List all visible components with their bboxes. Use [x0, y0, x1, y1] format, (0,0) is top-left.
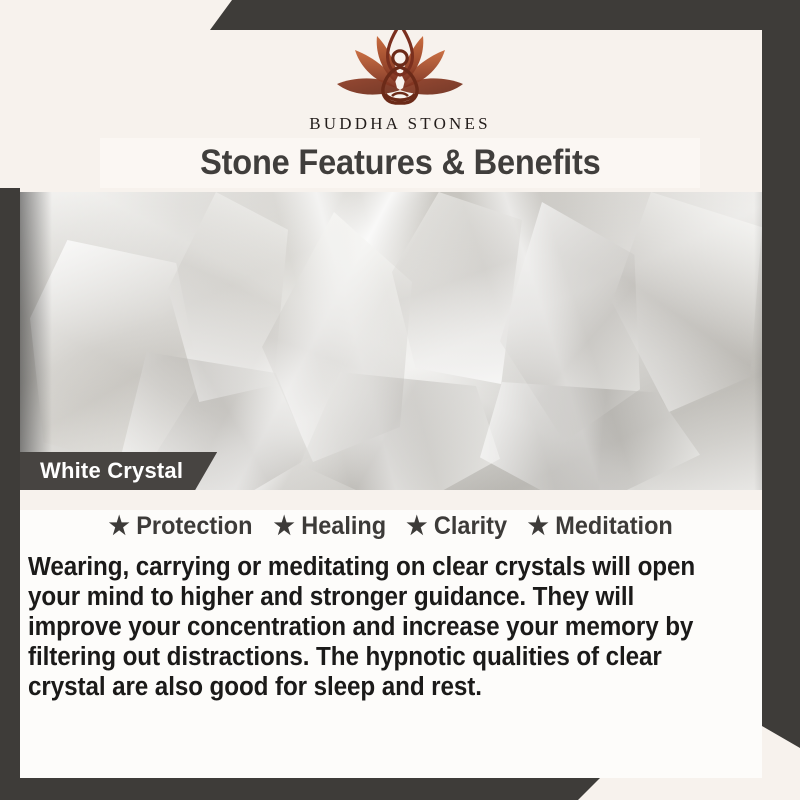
stone-info-card: BUDDHA STONES Stone Features & Benefits …	[0, 0, 800, 800]
frame-left-band	[0, 188, 20, 800]
hero-image	[0, 192, 800, 490]
benefits-list: ★ Protection ★ Healing ★ Clarity ★ Medit…	[20, 512, 762, 541]
lotus-meditation-icon	[325, 18, 475, 110]
benefit-item-clarity: ★ Clarity	[406, 512, 507, 541]
frame-bottom-band	[0, 778, 600, 800]
star-icon: ★	[406, 514, 427, 539]
frame-top-band	[210, 0, 800, 30]
frame-right-band	[762, 0, 800, 748]
content-top-tint	[20, 490, 762, 510]
content-panel: ★ Protection ★ Healing ★ Clarity ★ Medit…	[20, 490, 762, 778]
page-title-bar: Stone Features & Benefits	[100, 138, 700, 188]
benefit-label: Meditation	[556, 512, 673, 541]
star-icon: ★	[274, 514, 295, 539]
benefit-item-meditation: ★ Meditation	[528, 512, 673, 541]
benefit-label: Clarity	[434, 512, 507, 541]
brand-name: BUDDHA STONES	[0, 114, 800, 134]
stone-name-label: White Crystal	[40, 458, 183, 484]
star-icon: ★	[528, 514, 549, 539]
benefit-label: Protection	[137, 512, 253, 541]
page-title: Stone Features & Benefits	[200, 143, 601, 183]
benefit-item-protection: ★ Protection	[109, 512, 253, 541]
benefit-item-healing: ★ Healing	[274, 512, 387, 541]
crystal-cluster-photo	[0, 192, 800, 490]
stone-description: Wearing, carrying or meditating on clear…	[28, 552, 718, 702]
benefit-label: Healing	[302, 512, 387, 541]
crystal-facet	[392, 192, 522, 392]
brand-logo-block: BUDDHA STONES	[0, 18, 800, 134]
stone-name-banner: White Crystal	[20, 452, 217, 490]
star-icon: ★	[109, 514, 130, 539]
